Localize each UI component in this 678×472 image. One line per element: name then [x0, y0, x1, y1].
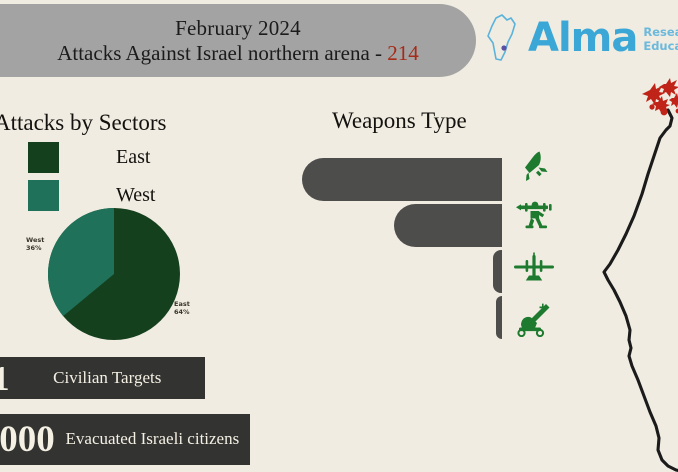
header-subtitle-text: Attacks Against Israel northern arena - — [57, 41, 387, 65]
attack-markers — [642, 78, 678, 115]
alma-logo-wordmark: Alma — [528, 18, 637, 58]
weapon-icon-slot-anti-tank — [508, 191, 560, 242]
header-attack-count: 214 — [387, 41, 419, 65]
alma-tagline-line1: Resear — [643, 26, 678, 40]
header-subtitle: Attacks Against Israel northern arena - … — [57, 41, 419, 65]
israel-map-outline-icon — [484, 12, 526, 64]
weapon-icon-slot-rocket — [508, 140, 560, 191]
legend-swatch-east — [28, 142, 59, 173]
bar-row-rocket — [290, 158, 502, 204]
legend-item-east: East — [28, 138, 156, 176]
sectors-legend: East West — [28, 138, 156, 214]
alma-logo-tagline: Resear Educat — [643, 26, 678, 53]
legend-label-west: West — [116, 184, 156, 207]
weapons-bar-chart — [290, 158, 502, 342]
weapon-icon-column — [508, 140, 560, 344]
bar-row-anti-tank — [290, 204, 502, 250]
bar-anti-tank-missile[interactable] — [394, 204, 502, 247]
rocket-icon — [514, 146, 554, 186]
attacks-by-sectors-title: Attacks by Sectors — [0, 110, 166, 136]
drone-uav-icon — [512, 251, 556, 285]
weapon-icon-slot-drone — [508, 242, 560, 293]
weapons-type-title: Weapons Type — [332, 108, 467, 134]
legend-swatch-west — [28, 180, 59, 211]
stat-evacuated-label: Evacuated Israeli citizens — [55, 430, 250, 449]
bar-rocket[interactable] — [302, 158, 502, 201]
israel-map — [596, 78, 678, 472]
header-banner: February 2024 Attacks Against Israel nor… — [0, 4, 476, 77]
bar-row-anti-aircraft — [290, 296, 502, 342]
weapon-icon-slot-anti-aircraft — [508, 293, 560, 344]
anti-aircraft-gun-icon — [513, 301, 555, 337]
infographic-canvas: February 2024 Attacks Against Israel nor… — [0, 0, 678, 472]
israel-border-path — [604, 110, 678, 472]
legend-label-east: East — [116, 146, 150, 169]
header-date: February 2024 — [175, 16, 301, 40]
pie-label-east: East64% — [174, 300, 190, 316]
israel-map-svg — [596, 78, 678, 472]
stat-evacuated-number: ,000 — [0, 421, 55, 458]
stat-civilian-label: Civilian Targets — [10, 369, 206, 388]
pie-svg — [48, 208, 180, 340]
alma-logo[interactable]: Alma Resear Educat — [484, 10, 678, 66]
alma-tagline-line2: Educat — [643, 40, 678, 54]
bar-drone-uav[interactable] — [493, 250, 502, 293]
stat-evacuated-citizens: ,000 Evacuated Israeli citizens — [0, 414, 250, 465]
bar-anti-aircraft-gun[interactable] — [496, 296, 502, 339]
pie-label-west: West36% — [26, 236, 44, 252]
stat-civilian-number: 1 — [0, 361, 10, 396]
sectors-pie-chart: West36% East64% — [48, 208, 180, 340]
stat-civilian-targets: 1 Civilian Targets — [0, 357, 205, 399]
anti-tank-missile-soldier-icon — [513, 197, 555, 237]
bar-row-drone — [290, 250, 502, 296]
